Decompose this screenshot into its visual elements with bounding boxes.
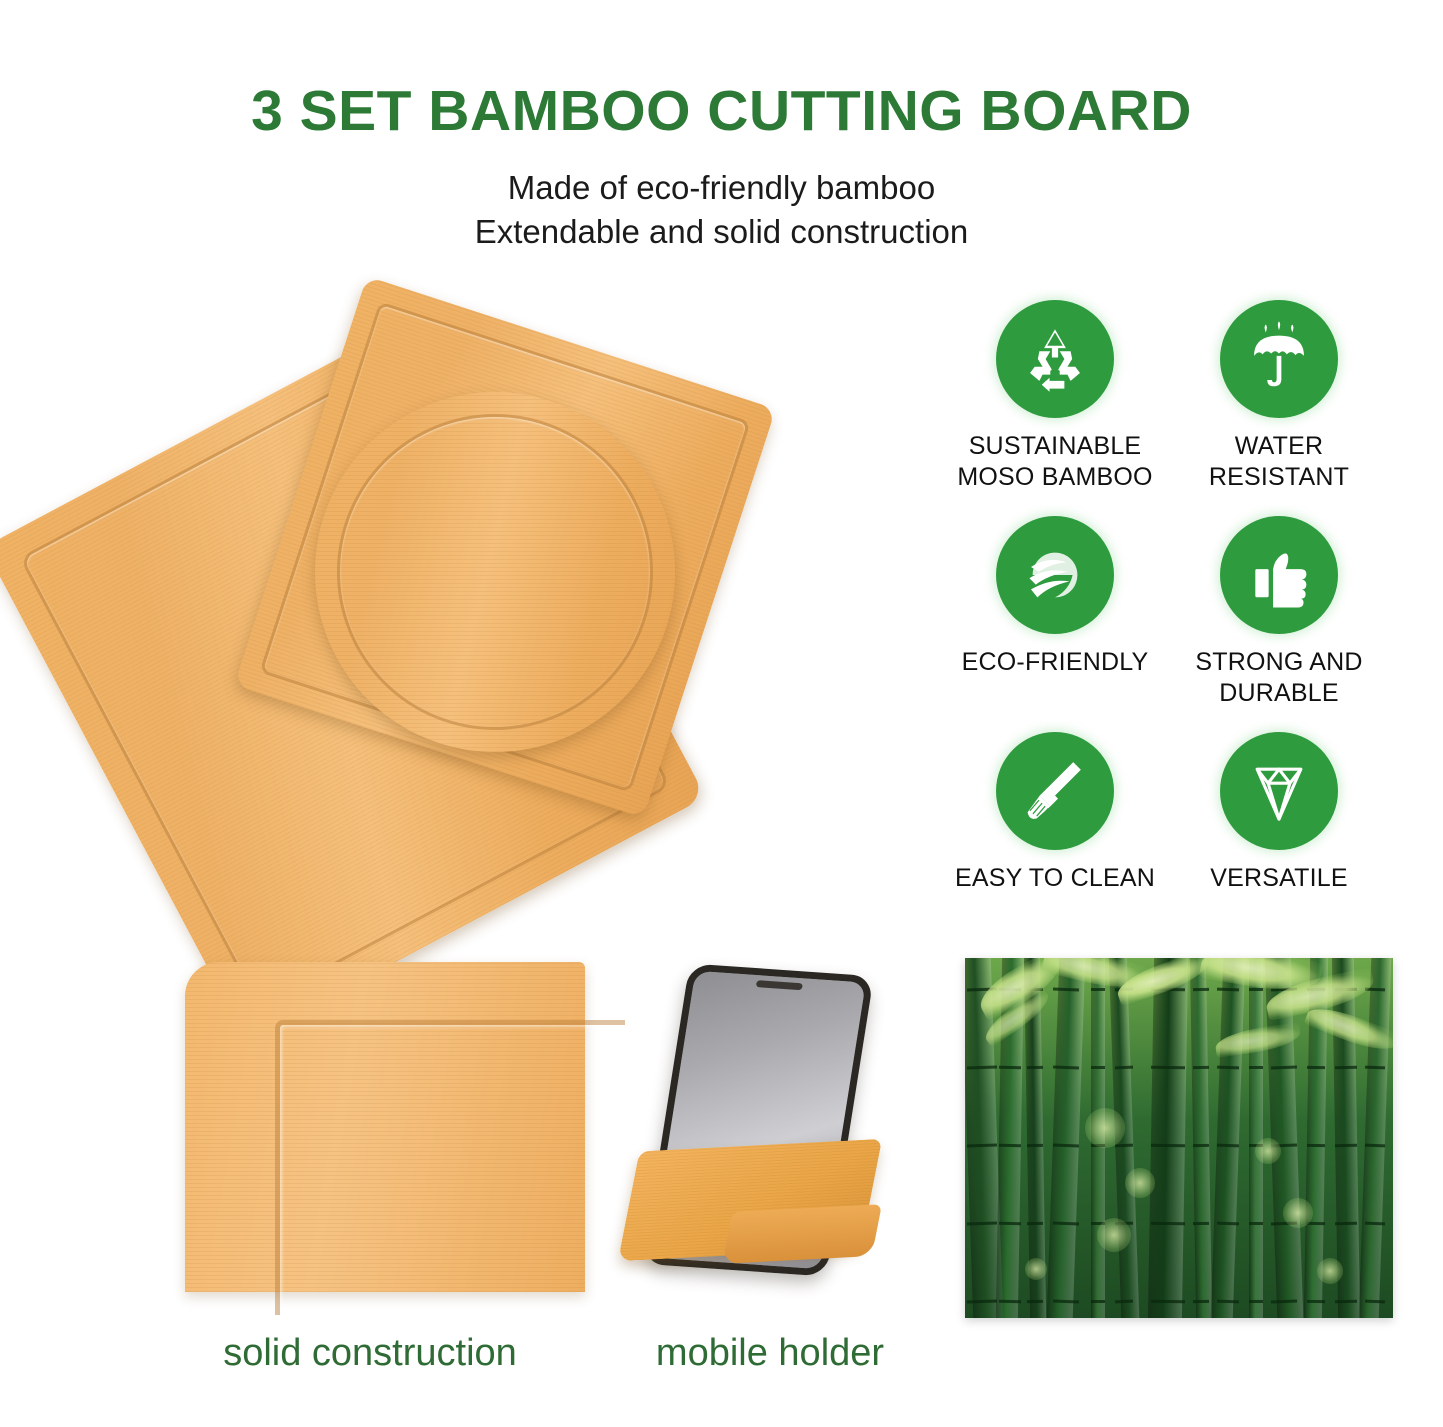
forest-bokeh bbox=[1097, 1218, 1131, 1252]
bamboo-node bbox=[1027, 1300, 1043, 1303]
solid-construction-caption: solid construction bbox=[150, 1332, 590, 1375]
bamboo-node bbox=[1193, 1222, 1209, 1225]
header: 3 SET BAMBOO CUTTING BOARD Made of eco-f… bbox=[0, 0, 1443, 254]
bamboo-node bbox=[1335, 1066, 1357, 1069]
bamboo-node bbox=[1091, 1066, 1105, 1069]
forest-bokeh bbox=[1255, 1138, 1281, 1164]
forest-bokeh bbox=[1283, 1198, 1313, 1228]
bamboo-node bbox=[999, 1300, 1021, 1303]
bamboo-node bbox=[1027, 1144, 1043, 1147]
product-infographic: 3 SET BAMBOO CUTTING BOARD Made of eco-f… bbox=[0, 0, 1443, 1427]
subtitle: Made of eco-friendly bamboo Extendable a… bbox=[0, 166, 1443, 254]
board-closeup-image bbox=[185, 962, 585, 1292]
feature-label: VERSATILE bbox=[1210, 863, 1348, 894]
bamboo-node bbox=[1249, 988, 1263, 991]
diamond-icon bbox=[1220, 732, 1338, 850]
bamboo-node bbox=[1217, 988, 1239, 992]
bamboo-node bbox=[1307, 1066, 1325, 1069]
bamboo-node bbox=[1151, 1066, 1185, 1070]
bamboo-node bbox=[1115, 1066, 1133, 1070]
forest-bokeh bbox=[1317, 1258, 1343, 1284]
broom-icon bbox=[996, 732, 1114, 850]
bamboo-node bbox=[1151, 1300, 1185, 1304]
bamboo-culm bbox=[1358, 958, 1391, 1318]
juice-groove bbox=[337, 414, 653, 730]
feature-easy-to-clean: EASY TO CLEAN bbox=[952, 732, 1158, 940]
round-board bbox=[315, 392, 675, 752]
bamboo-culm bbox=[1046, 958, 1085, 1318]
bamboo-node bbox=[1307, 1144, 1325, 1147]
bamboo-node bbox=[1151, 1222, 1185, 1226]
bamboo-culm bbox=[1190, 958, 1213, 1318]
bamboo-node bbox=[999, 1144, 1021, 1147]
bamboo-node bbox=[1365, 1222, 1385, 1226]
bamboo-node bbox=[1307, 1300, 1325, 1303]
bamboo-node bbox=[1053, 988, 1079, 992]
bamboo-stand-lip bbox=[722, 1204, 882, 1264]
bamboo-node bbox=[1249, 1066, 1263, 1069]
bamboo-node bbox=[1365, 1300, 1385, 1304]
forest-bokeh bbox=[1085, 1108, 1125, 1148]
bamboo-node bbox=[999, 1222, 1021, 1225]
bamboo-node bbox=[1335, 1300, 1357, 1303]
hero-product-image bbox=[60, 272, 960, 932]
feature-label: ECO-FRIENDLY bbox=[962, 647, 1149, 678]
bamboo-node bbox=[1365, 1066, 1385, 1070]
bamboo-node bbox=[1193, 1066, 1209, 1069]
feature-water-resistant: WATER RESISTANT bbox=[1176, 300, 1382, 508]
bamboo-node bbox=[1115, 1300, 1133, 1304]
umbrella-icon bbox=[1220, 300, 1338, 418]
bamboo-node bbox=[1335, 1144, 1357, 1147]
forest-bokeh bbox=[1125, 1168, 1155, 1198]
phone-speaker-notch bbox=[756, 980, 803, 990]
feature-label: SUSTAINABLE MOSO BAMBOO bbox=[952, 431, 1158, 492]
feature-eco-friendly: ECO-FRIENDLY bbox=[952, 516, 1158, 724]
bamboo-node bbox=[1091, 988, 1105, 991]
feature-strong-and-durable: STRONG AND DURABLE bbox=[1176, 516, 1382, 724]
page-title: 3 SET BAMBOO CUTTING BOARD bbox=[0, 0, 1443, 144]
feature-versatile: VERSATILE bbox=[1176, 732, 1382, 940]
bamboo-node bbox=[1365, 1144, 1385, 1148]
juice-groove bbox=[275, 1020, 625, 1315]
bamboo-node bbox=[1115, 1144, 1133, 1148]
feature-label: EASY TO CLEAN bbox=[955, 863, 1155, 894]
bamboo-forest-image bbox=[965, 958, 1393, 1318]
subtitle-line-2: Extendable and solid construction bbox=[0, 210, 1443, 254]
recycle-icon bbox=[996, 300, 1114, 418]
bamboo-node bbox=[1249, 1300, 1263, 1303]
bamboo-node bbox=[1193, 1300, 1209, 1303]
subtitle-line-1: Made of eco-friendly bamboo bbox=[0, 166, 1443, 210]
forest-bokeh bbox=[1025, 1258, 1047, 1280]
bamboo-node bbox=[1027, 1222, 1043, 1225]
bamboo-culm bbox=[1148, 958, 1189, 1318]
bottom-gallery: solid construction mobile holder bbox=[0, 950, 1443, 1380]
thumbs-up-icon bbox=[1220, 516, 1338, 634]
bamboo-node bbox=[1091, 1300, 1105, 1303]
bamboo-node bbox=[999, 1066, 1021, 1069]
leaf-icon bbox=[996, 516, 1114, 634]
bamboo-node bbox=[1335, 1222, 1357, 1225]
bamboo-culm bbox=[1249, 958, 1263, 1318]
bamboo-node bbox=[1249, 1222, 1263, 1225]
feature-label: STRONG AND DURABLE bbox=[1176, 647, 1382, 708]
bamboo-node bbox=[1193, 988, 1209, 991]
feature-sustainable-moso-bamboo: SUSTAINABLE MOSO BAMBOO bbox=[952, 300, 1158, 508]
feature-grid: SUSTAINABLE MOSO BAMBOO WATER RESISTANT bbox=[952, 300, 1382, 940]
bamboo-node bbox=[1151, 1144, 1185, 1148]
bamboo-node bbox=[1193, 1144, 1209, 1147]
bamboo-node bbox=[1027, 1066, 1043, 1069]
feature-label: WATER RESISTANT bbox=[1176, 431, 1382, 492]
mobile-holder-caption: mobile holder bbox=[600, 1332, 940, 1375]
bamboo-culm bbox=[1210, 958, 1245, 1318]
